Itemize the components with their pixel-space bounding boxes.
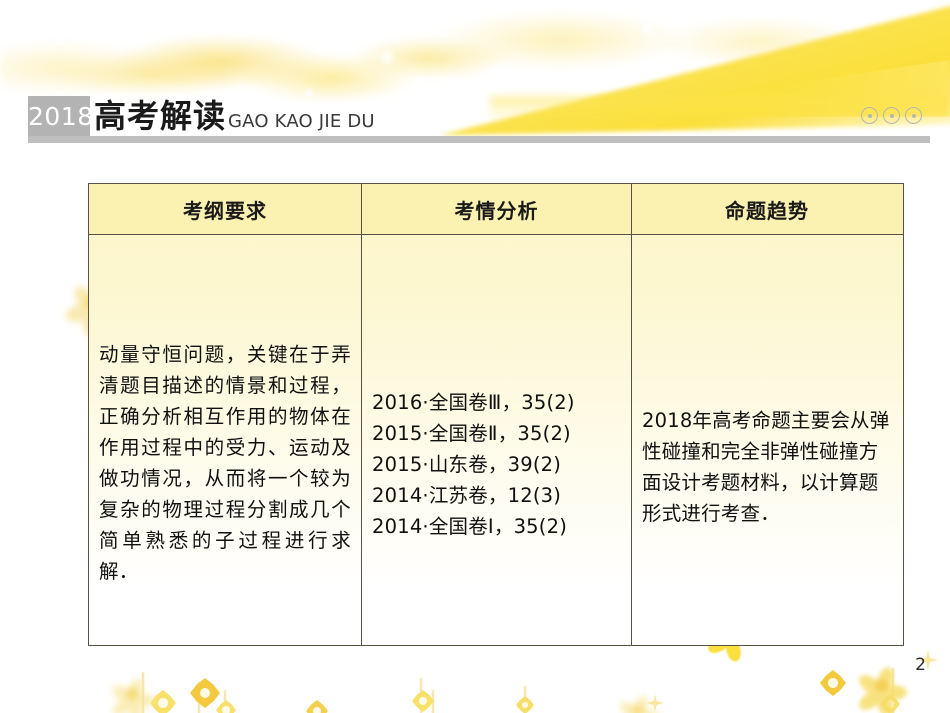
list-item: 2014·江苏卷，12(3) [372,480,621,511]
table-cell-trend: 2018年高考命题主要会从弹性碰撞和完全非弹性碰撞方面设计考题材料，以计算题形式… [632,235,902,646]
flower-stem-decoration [224,690,226,713]
flower-stem-decoration [892,668,894,713]
year-badge: 2018 [28,96,90,138]
list-item: 2015·山东卷，39(2) [372,449,621,480]
circle-dot-icon [883,107,900,124]
flower-icon [110,672,154,713]
outline-text: 动量守恒问题，关键在于弄清题目描述的情景和过程，正确分析相互作用的物体在作用过程… [99,235,351,587]
circle-dot-icon [861,107,878,124]
flower-icon [190,678,220,708]
table-header-cell-analysis: 考情分析 [361,184,632,234]
page-title: 高考解读 [94,94,226,138]
flower-icon [150,690,176,713]
table-cell-analysis: 2016·全国卷Ⅲ，35(2) 2015·全国卷Ⅱ，35(2) 2015·山东卷… [361,235,632,646]
flower-icon [412,690,434,712]
table-body-row: 动量守恒问题，关键在于弄清题目描述的情景和过程，正确分析相互作用的物体在作用过程… [89,235,903,646]
star-icon [646,694,664,712]
table-header-row: 考纲要求 考情分析 命题趋势 [89,184,903,235]
flower-icon [216,700,236,713]
exam-summary-table: 考纲要求 考情分析 命题趋势 动量守恒问题，关键在于弄清题目描述的情景和过程，正… [88,183,904,646]
trend-text: 2018年高考命题主要会从弹性碰撞和完全非弹性碰撞方面设计考题材料，以计算题形式… [642,235,892,529]
table-header-cell-outline: 考纲要求 [89,184,361,234]
table-header-cell-trend: 命题趋势 [632,184,902,234]
flower-icon [516,696,534,713]
flower-icon [306,700,328,713]
decorative-circles-group [861,107,922,124]
slide-page: 2018 高考解读 GAO KAO JIE DU [0,0,950,713]
slide-header: 2018 高考解读 GAO KAO JIE DU [0,96,950,148]
list-item: 2016·全国卷Ⅲ，35(2) [372,387,621,418]
flower-stem-decoration [142,672,144,713]
flower-icon [856,660,906,710]
circle-dot-icon [905,107,922,124]
flower-icon [880,694,900,713]
title-underline [28,136,930,143]
list-item: 2015·全国卷Ⅱ，35(2) [372,418,621,449]
table-cell-outline: 动量守恒问题，关键在于弄清题目描述的情景和过程，正确分析相互作用的物体在作用过程… [89,235,361,646]
analysis-list: 2016·全国卷Ⅲ，35(2) 2015·全国卷Ⅱ，35(2) 2015·山东卷… [372,235,621,542]
flower-stem-decoration [420,678,422,713]
list-item: 2014·全国卷Ⅰ，35(2) [372,511,621,542]
flower-icon [618,690,658,713]
flower-stem-decoration [198,682,200,713]
flower-icon [820,670,846,696]
flower-stem-decoration [432,690,434,713]
flower-stem-decoration [524,686,526,713]
page-subtitle: GAO KAO JIE DU [228,108,375,136]
sparkle-icon [374,44,400,70]
page-number: 2 [915,655,926,675]
sparkle-icon [636,18,658,40]
